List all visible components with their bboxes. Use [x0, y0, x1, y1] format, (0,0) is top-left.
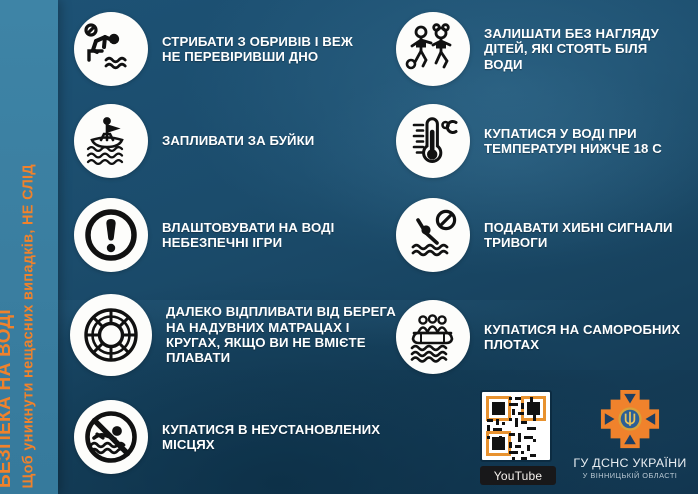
rule-item: ПОДАВАТИ ХИБНІ СИГНАЛИ ТРИВОГИ	[396, 198, 682, 272]
exclamation-icon	[74, 198, 148, 272]
rule-item: ЗАЛИШАТИ БЕЗ НАГЛЯДУ ДІТЕЙ, ЯКІ СТОЯТЬ Б…	[396, 12, 682, 86]
poster-canvas: БЕЗПЕКА НА ВОДІ Щоб уникнути нещасних ви…	[0, 0, 698, 494]
rule-label: ЗАПЛИВАТИ ЗА БУЙКИ	[162, 133, 374, 148]
unattended-children-icon	[396, 12, 470, 86]
org-region: У ВІННИЦЬКІЙ ОБЛАСТІ	[572, 471, 688, 480]
no-diving-icon	[74, 12, 148, 86]
false-alarm-icon	[396, 198, 470, 272]
qr-code-link[interactable]: YouTube	[480, 390, 556, 485]
rule-label: КУПАТИСЯ НА САМОРОБНИХ ПЛОТАХ	[484, 322, 682, 353]
rule-label: ДАЛЕКО ВІДПЛИВАТИ ВІД БЕРЕГА НА НАДУВНИХ…	[166, 304, 398, 365]
youtube-label[interactable]: YouTube	[480, 466, 556, 485]
rule-item: ЗАПЛИВАТИ ЗА БУЙКИ	[74, 104, 374, 178]
no-swimming-icon	[74, 400, 148, 474]
rule-label: ЗАЛИШАТИ БЕЗ НАГЛЯДУ ДІТЕЙ, ЯКІ СТОЯТЬ Б…	[484, 26, 682, 72]
buoy-icon	[74, 104, 148, 178]
rule-label: КУПАТИСЯ У ВОДІ ПРИ ТЕМПЕРАТУРІ НИЖЧЕ 18…	[484, 126, 682, 157]
rule-item: КУПАТИСЯ В НЕУСТАНОВЛЕНИХ МІСЦЯХ	[74, 400, 402, 474]
poster-title: БЕЗПЕКА НА ВОДІ	[0, 309, 14, 488]
rule-label: СТРИБАТИ З ОБРИВІВ І ВЕЖ НЕ ПЕРЕВІРИВШИ …	[162, 34, 374, 65]
poster-subtitle: Щоб уникнути нещасних випадків, НЕ СЛІД	[22, 164, 37, 488]
org-name: ГУ ДСНС УКРАЇНИ	[572, 456, 688, 470]
rule-item: КУПАТИСЯ У ВОДІ ПРИ ТЕМПЕРАТУРІ НИЖЧЕ 18…	[396, 104, 682, 178]
rule-item: ДАЛЕКО ВІДПЛИВАТИ ВІД БЕРЕГА НА НАДУВНИХ…	[70, 294, 398, 376]
qr-finder-top-left	[486, 396, 511, 421]
dsns-emblem-block: ГУ ДСНС УКРАЇНИ У ВІННИЦЬКІЙ ОБЛАСТІ	[572, 388, 688, 480]
rule-item: ВЛАШТОВУВАТИ НА ВОДІ НЕБЕЗПЕЧНІ ІГРИ	[74, 198, 377, 272]
rule-item: СТРИБАТИ З ОБРИВІВ І ВЕЖ НЕ ПЕРЕВІРИВШИ …	[74, 12, 374, 86]
branding-block: YouTube ГУ ДСНС УКРАЇНИ У ВІННИЦЬКІЙ ОБЛ…	[476, 388, 688, 488]
life-ring-icon	[70, 294, 152, 376]
rule-item: КУПАТИСЯ НА САМОРОБНИХ ПЛОТАХ	[396, 300, 682, 374]
qr-code-image[interactable]	[480, 390, 552, 462]
sidebar-band: БЕЗПЕКА НА ВОДІ Щоб уникнути нещасних ви…	[0, 0, 58, 494]
qr-finder-bottom-left	[486, 431, 511, 456]
rule-label: ПОДАВАТИ ХИБНІ СИГНАЛИ ТРИВОГИ	[484, 220, 682, 251]
dsns-cross-emblem	[599, 388, 661, 450]
thermometer-icon	[396, 104, 470, 178]
rule-label: ВЛАШТОВУВАТИ НА ВОДІ НЕБЕЗПЕЧНІ ІГРИ	[162, 220, 377, 251]
rule-label: КУПАТИСЯ В НЕУСТАНОВЛЕНИХ МІСЦЯХ	[162, 422, 402, 453]
raft-icon	[396, 300, 470, 374]
